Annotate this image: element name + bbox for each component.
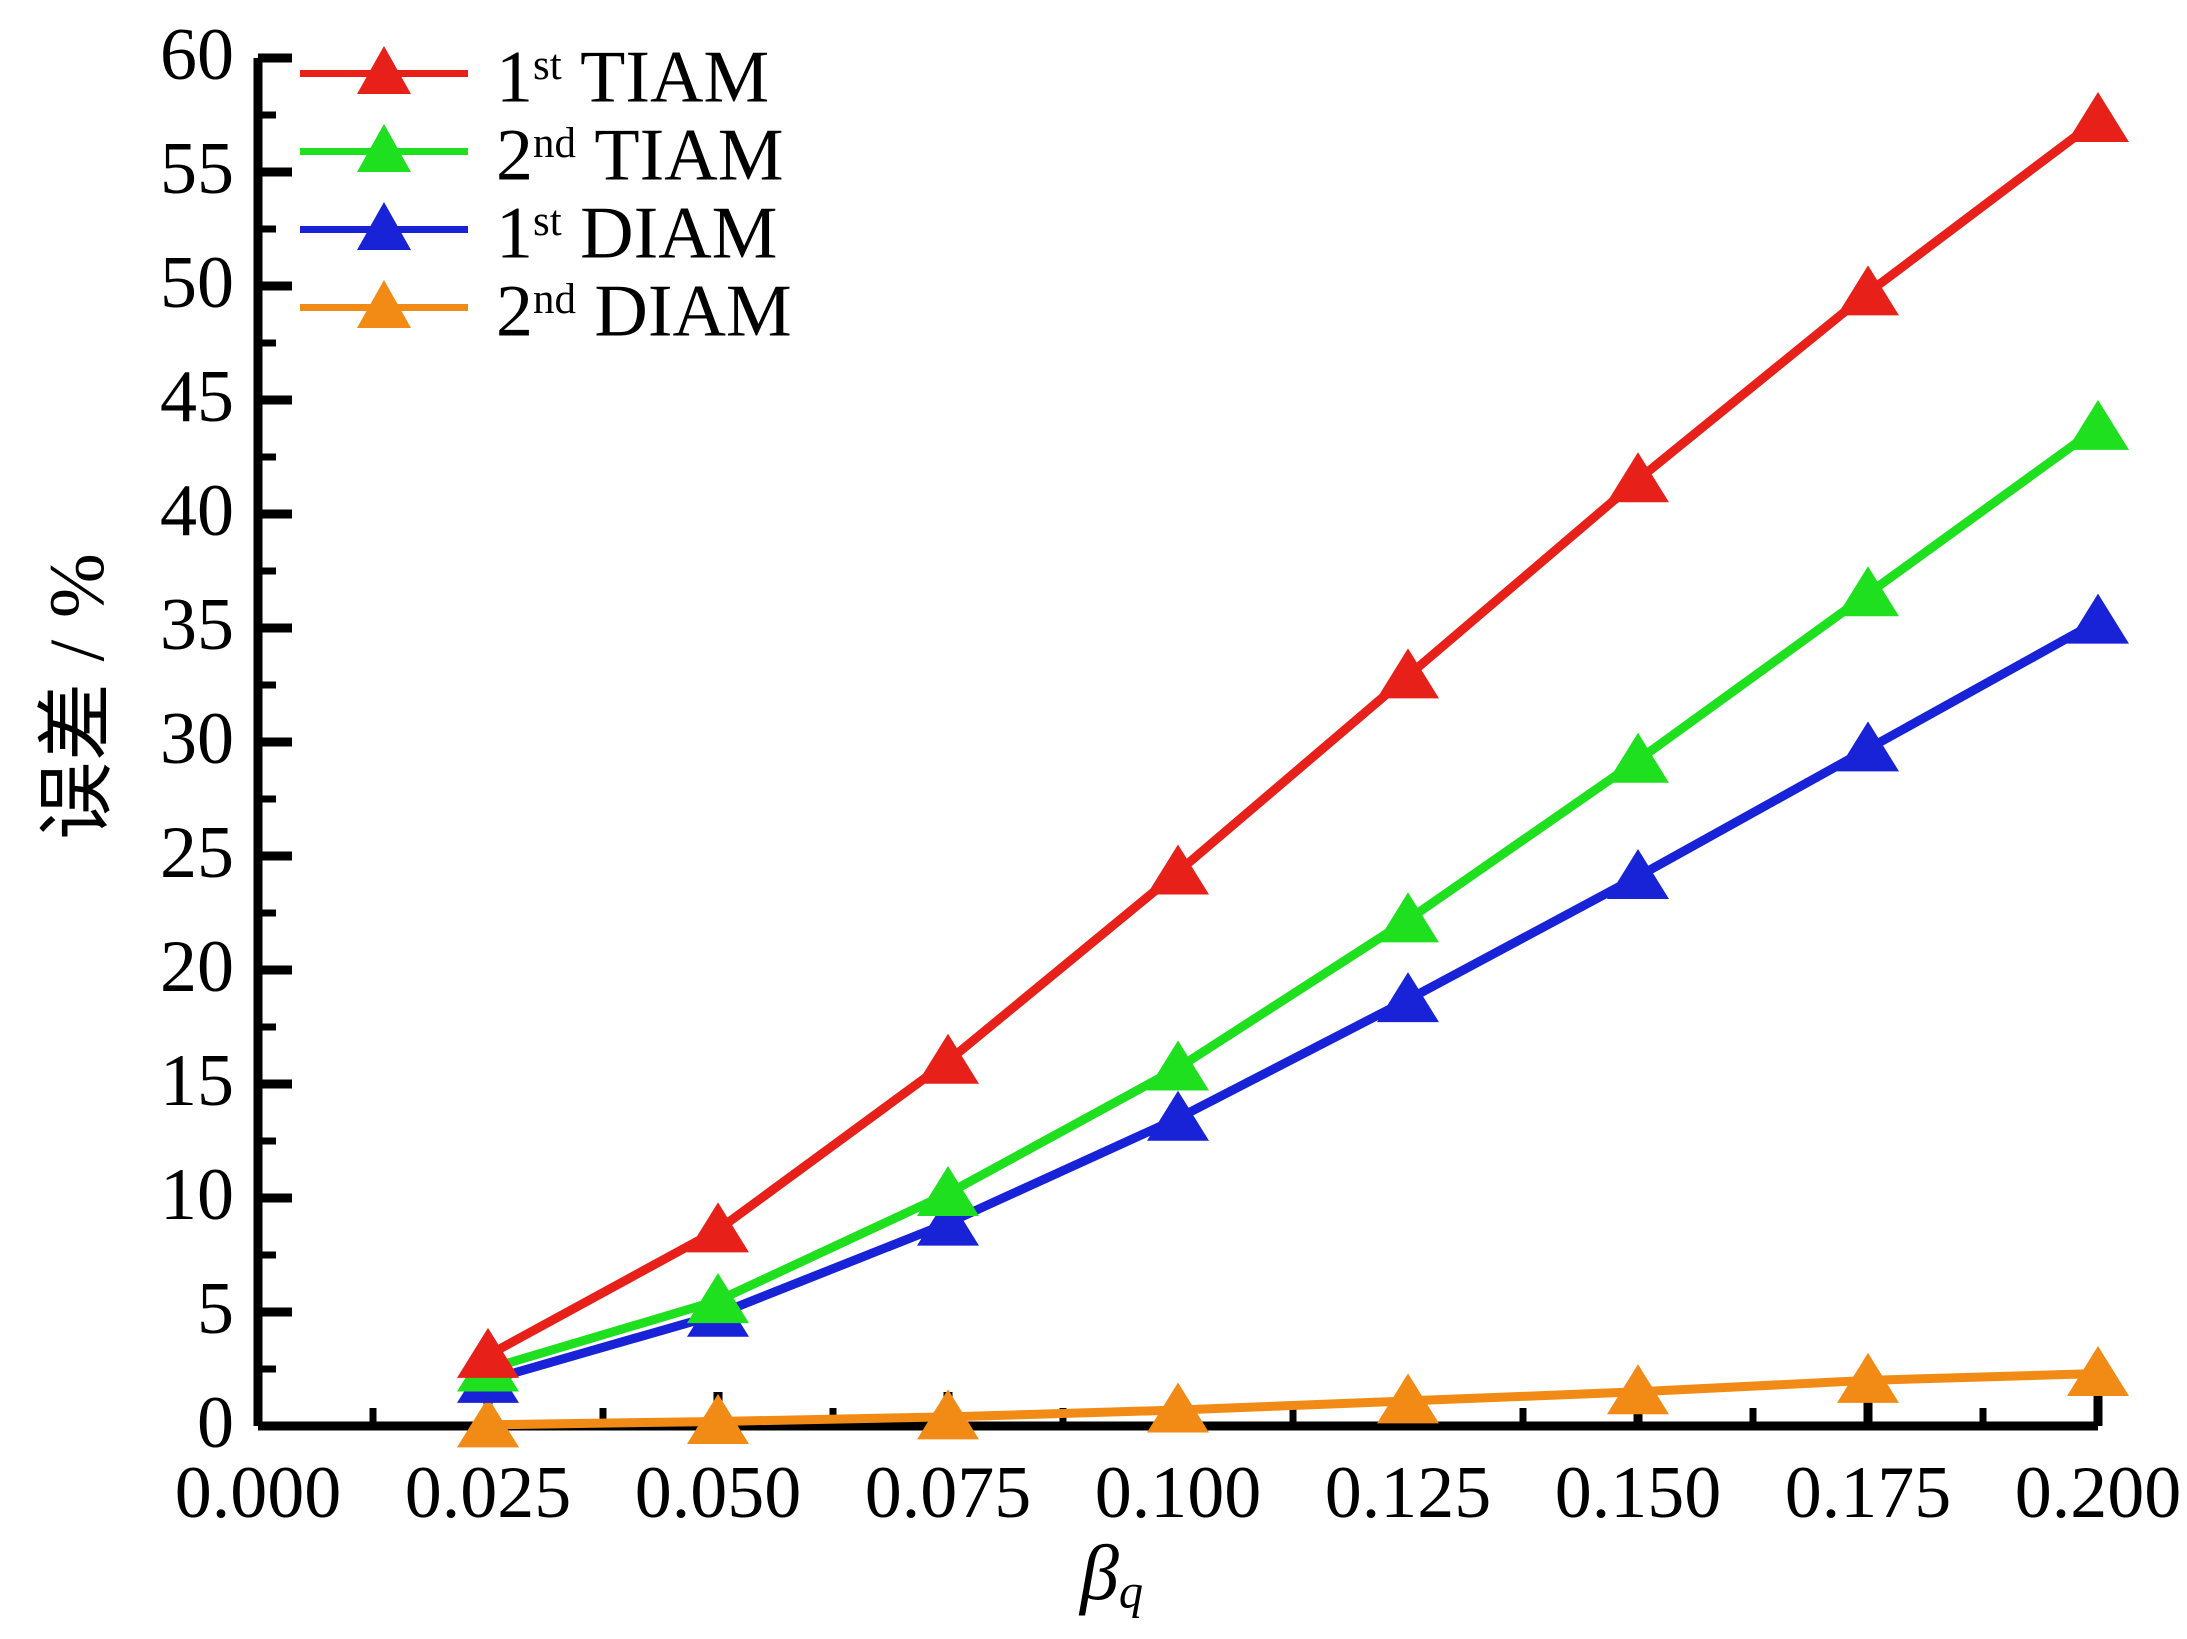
- x-axis-tick-label: 0.200: [1958, 1456, 2187, 1530]
- chart-figure: 误差 / % βq 1st TIAM 2nd TIAM 1st DIAM: [0, 0, 2187, 1639]
- plot-canvas: [0, 0, 2187, 1639]
- y-axis-tick-label: 15: [34, 1044, 234, 1118]
- data-point-marker: [1607, 849, 1669, 899]
- data-point-marker: [1147, 1041, 1209, 1091]
- y-axis-tick-label: 25: [34, 816, 234, 890]
- y-axis-tick-label: 0: [34, 1386, 234, 1460]
- data-point-marker: [2067, 594, 2129, 644]
- y-axis-tick-label: 55: [34, 132, 234, 206]
- data-point-marker: [2067, 92, 2129, 142]
- y-axis-tick-label: 20: [34, 930, 234, 1004]
- y-axis-tick-label: 10: [34, 1158, 234, 1232]
- y-axis-tick-label: 5: [34, 1272, 234, 1346]
- y-axis-tick-label: 40: [34, 474, 234, 548]
- y-axis-tick-label: 50: [34, 246, 234, 320]
- y-axis-tick-label: 35: [34, 588, 234, 662]
- y-axis-tick-label: 60: [34, 18, 234, 92]
- data-point-marker: [1147, 1091, 1209, 1141]
- y-axis-tick-label: 45: [34, 360, 234, 434]
- data-point-marker: [2067, 400, 2129, 450]
- data-point-marker: [1377, 972, 1439, 1022]
- data-point-marker: [687, 1273, 749, 1323]
- data-point-marker: [917, 1166, 979, 1216]
- series-line: [488, 621, 2098, 1380]
- y-axis-tick-label: 30: [34, 702, 234, 776]
- data-point-marker: [457, 1328, 519, 1378]
- data-point-marker: [1837, 721, 1899, 771]
